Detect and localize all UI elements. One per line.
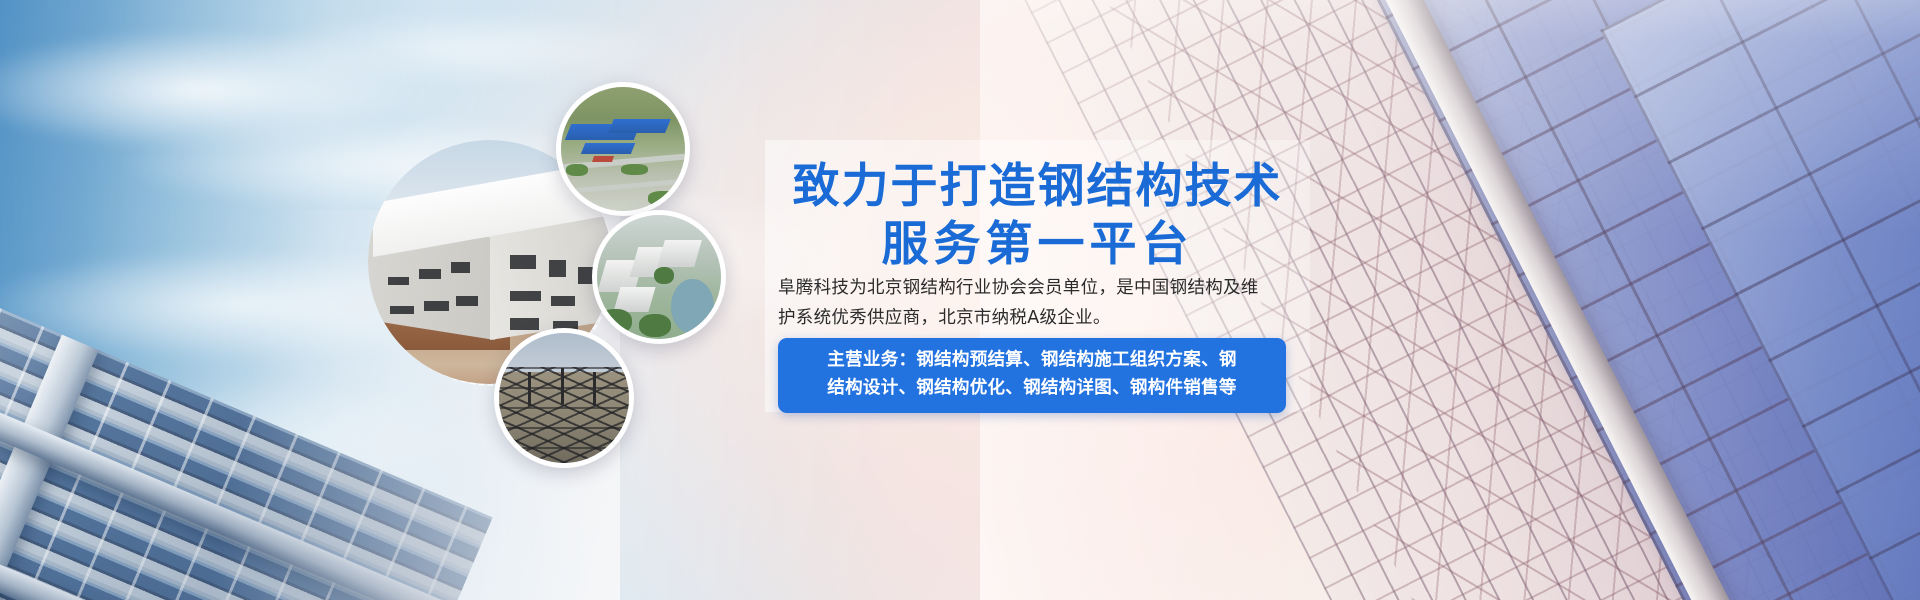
campus-water: [671, 279, 713, 334]
factory-blue-roof: [608, 119, 671, 133]
page-title: 致力于打造钢结构技术 服务第一平台: [765, 158, 1310, 275]
building-window: [456, 296, 478, 306]
subtitle-line-1: 阜腾科技为北京钢结构行业协会会员单位，是中国钢结构及维: [778, 273, 1300, 303]
campus-greenery: [639, 314, 671, 336]
thumb-circle-factory: [556, 82, 690, 216]
headline-line-2: 服务第一平台: [765, 216, 1310, 274]
campus-building: [613, 287, 655, 312]
factory-greenery: [648, 191, 680, 206]
building-window: [551, 296, 575, 306]
headline-line-1: 致力于打造钢结构技术: [765, 158, 1310, 216]
thumb-circle-campus: [592, 210, 726, 344]
subtitle-text: 阜腾科技为北京钢结构行业协会会员单位，是中国钢结构及维 护系统优秀供应商，北京市…: [778, 273, 1300, 333]
factory-greenery: [566, 164, 588, 176]
business-scope-box: 主营业务：钢结构预结算、钢结构施工组织方案、钢 结构设计、钢结构优化、钢结构详图…: [778, 338, 1286, 413]
factory-greenery: [621, 164, 648, 175]
campus-greenery: [654, 267, 674, 284]
factory-blue-roof: [581, 143, 635, 154]
building-window: [390, 306, 414, 315]
campus-greenery: [599, 309, 631, 334]
thumb-circle-steel-truss: [494, 328, 634, 468]
cloud-shape: [260, 14, 680, 84]
business-line-2: 结构设计、钢结构优化、钢结构详图、钢构件销售等: [792, 375, 1272, 403]
building-window: [419, 269, 441, 279]
building-window: [510, 291, 542, 301]
building-window: [451, 262, 471, 273]
subtitle-line-2: 护系统优秀供应商，北京市纳税A级企业。: [778, 303, 1300, 333]
building-window: [388, 277, 410, 286]
building-window: [510, 255, 537, 270]
building-window: [510, 318, 539, 330]
factory-court: [592, 156, 614, 162]
truss-post: [528, 372, 531, 406]
truss-post: [593, 372, 596, 406]
building-window: [549, 260, 566, 277]
business-line-1: 主营业务：钢结构预结算、钢结构施工组织方案、钢: [792, 347, 1272, 375]
truss-post: [561, 368, 564, 404]
building-window: [424, 301, 448, 311]
hero-banner: 致力于打造钢结构技术 服务第一平台 阜腾科技为北京钢结构行业协会会员单位，是中国…: [0, 0, 1920, 600]
